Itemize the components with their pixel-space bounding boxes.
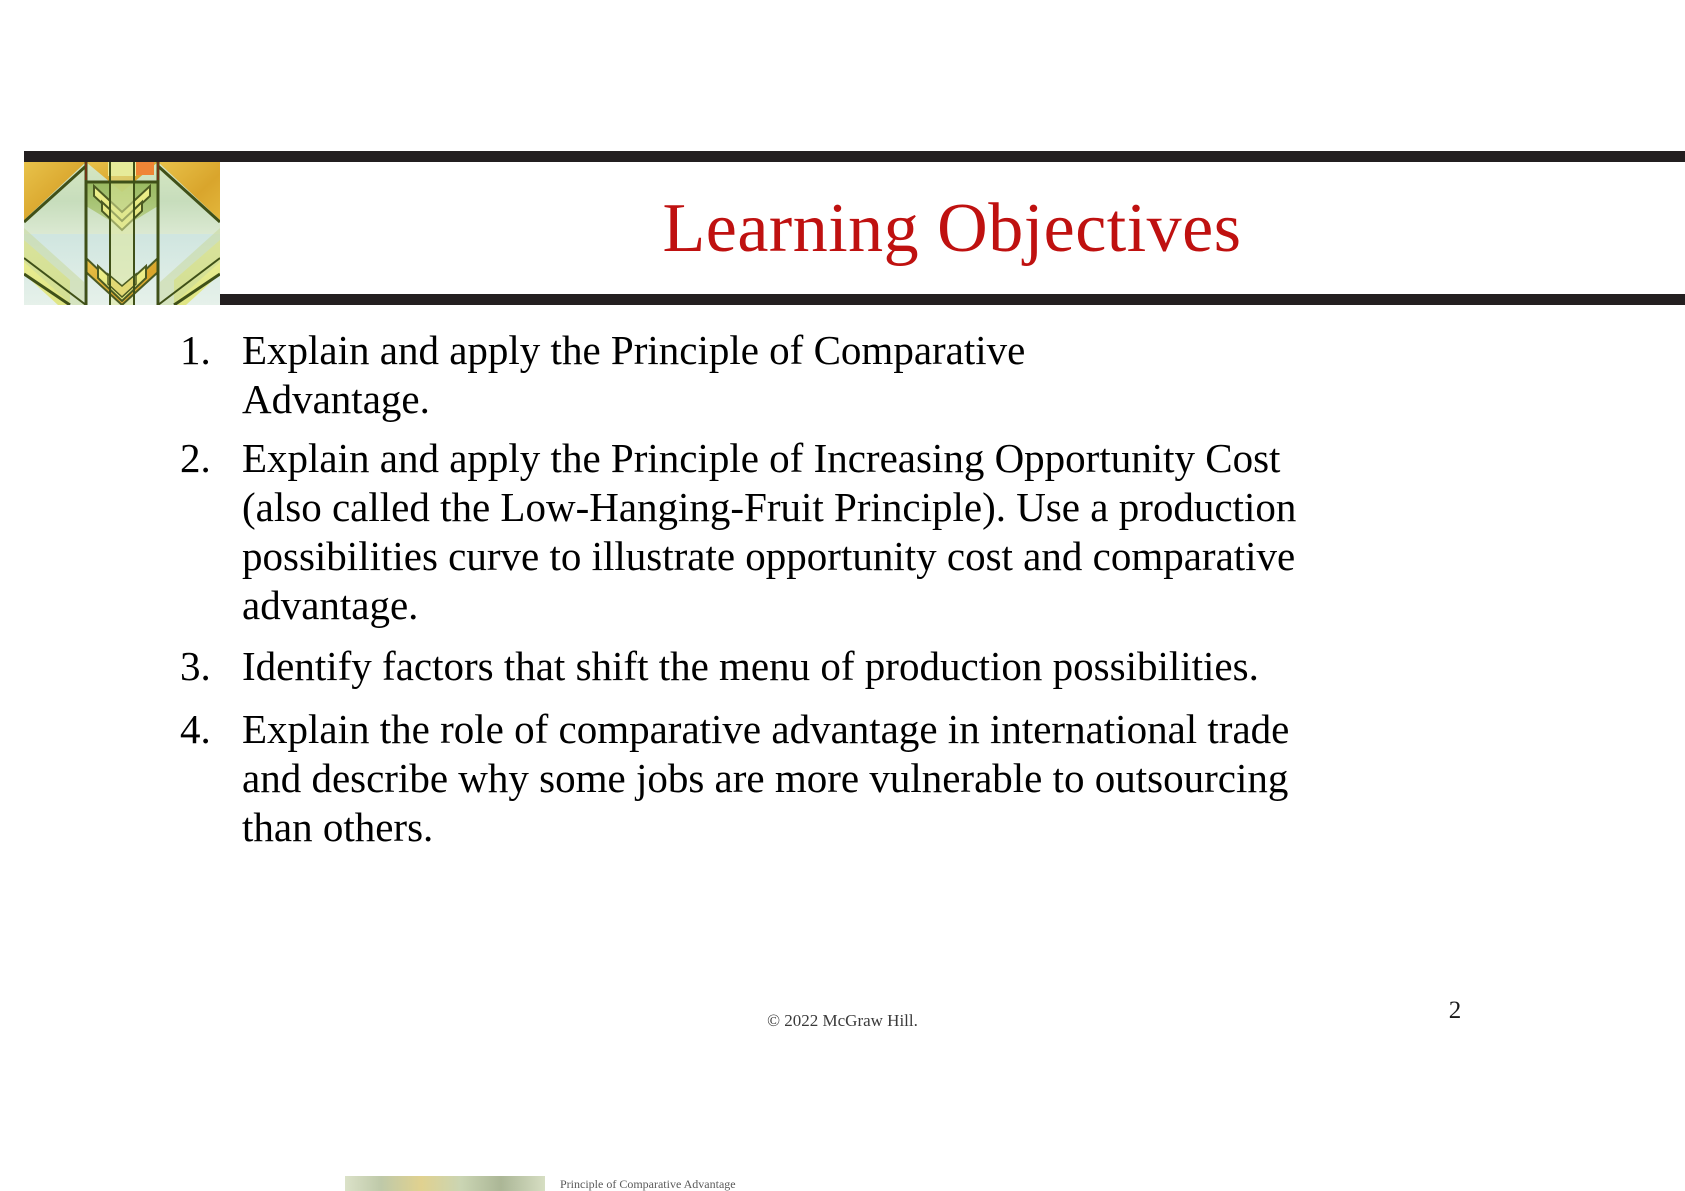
list-item-number: 2. [176, 434, 242, 483]
list-item-text: Explain the role of comparative advantag… [242, 705, 1352, 852]
header-rule-bottom [219, 294, 1685, 305]
list-item-number: 1. [176, 326, 242, 375]
list-item-text: Explain and apply the Principle of Compa… [242, 326, 1142, 424]
next-slide-title-sliver: Principle of Comparative Advantage [560, 1177, 736, 1191]
page-title: Learning Objectives [219, 165, 1685, 293]
header-rule-top [24, 151, 1685, 162]
list-item-number: 4. [176, 705, 242, 754]
next-slide-sliver: Principle of Comparative Advantage [0, 1176, 1685, 1191]
stained-glass-icon [24, 162, 220, 305]
slide-canvas: Learning Objectives 1. Explain and apply… [0, 0, 1685, 1191]
list-item-number: 3. [176, 642, 242, 691]
next-slide-glass-icon [345, 1176, 545, 1191]
learning-objectives-list: 1. Explain and apply the Principle of Co… [176, 326, 1506, 862]
list-item: 2. Explain and apply the Principle of In… [176, 434, 1506, 630]
list-item-text: Explain and apply the Principle of Incre… [242, 434, 1347, 630]
slide-header: Learning Objectives [0, 151, 1685, 305]
list-item: 3. Identify factors that shift the menu … [176, 642, 1506, 691]
list-item: 1. Explain and apply the Principle of Co… [176, 326, 1506, 424]
list-item: 4. Explain the role of comparative advan… [176, 705, 1506, 852]
page-number: 2 [1425, 997, 1485, 1025]
list-item-text: Identify factors that shift the menu of … [242, 642, 1502, 691]
